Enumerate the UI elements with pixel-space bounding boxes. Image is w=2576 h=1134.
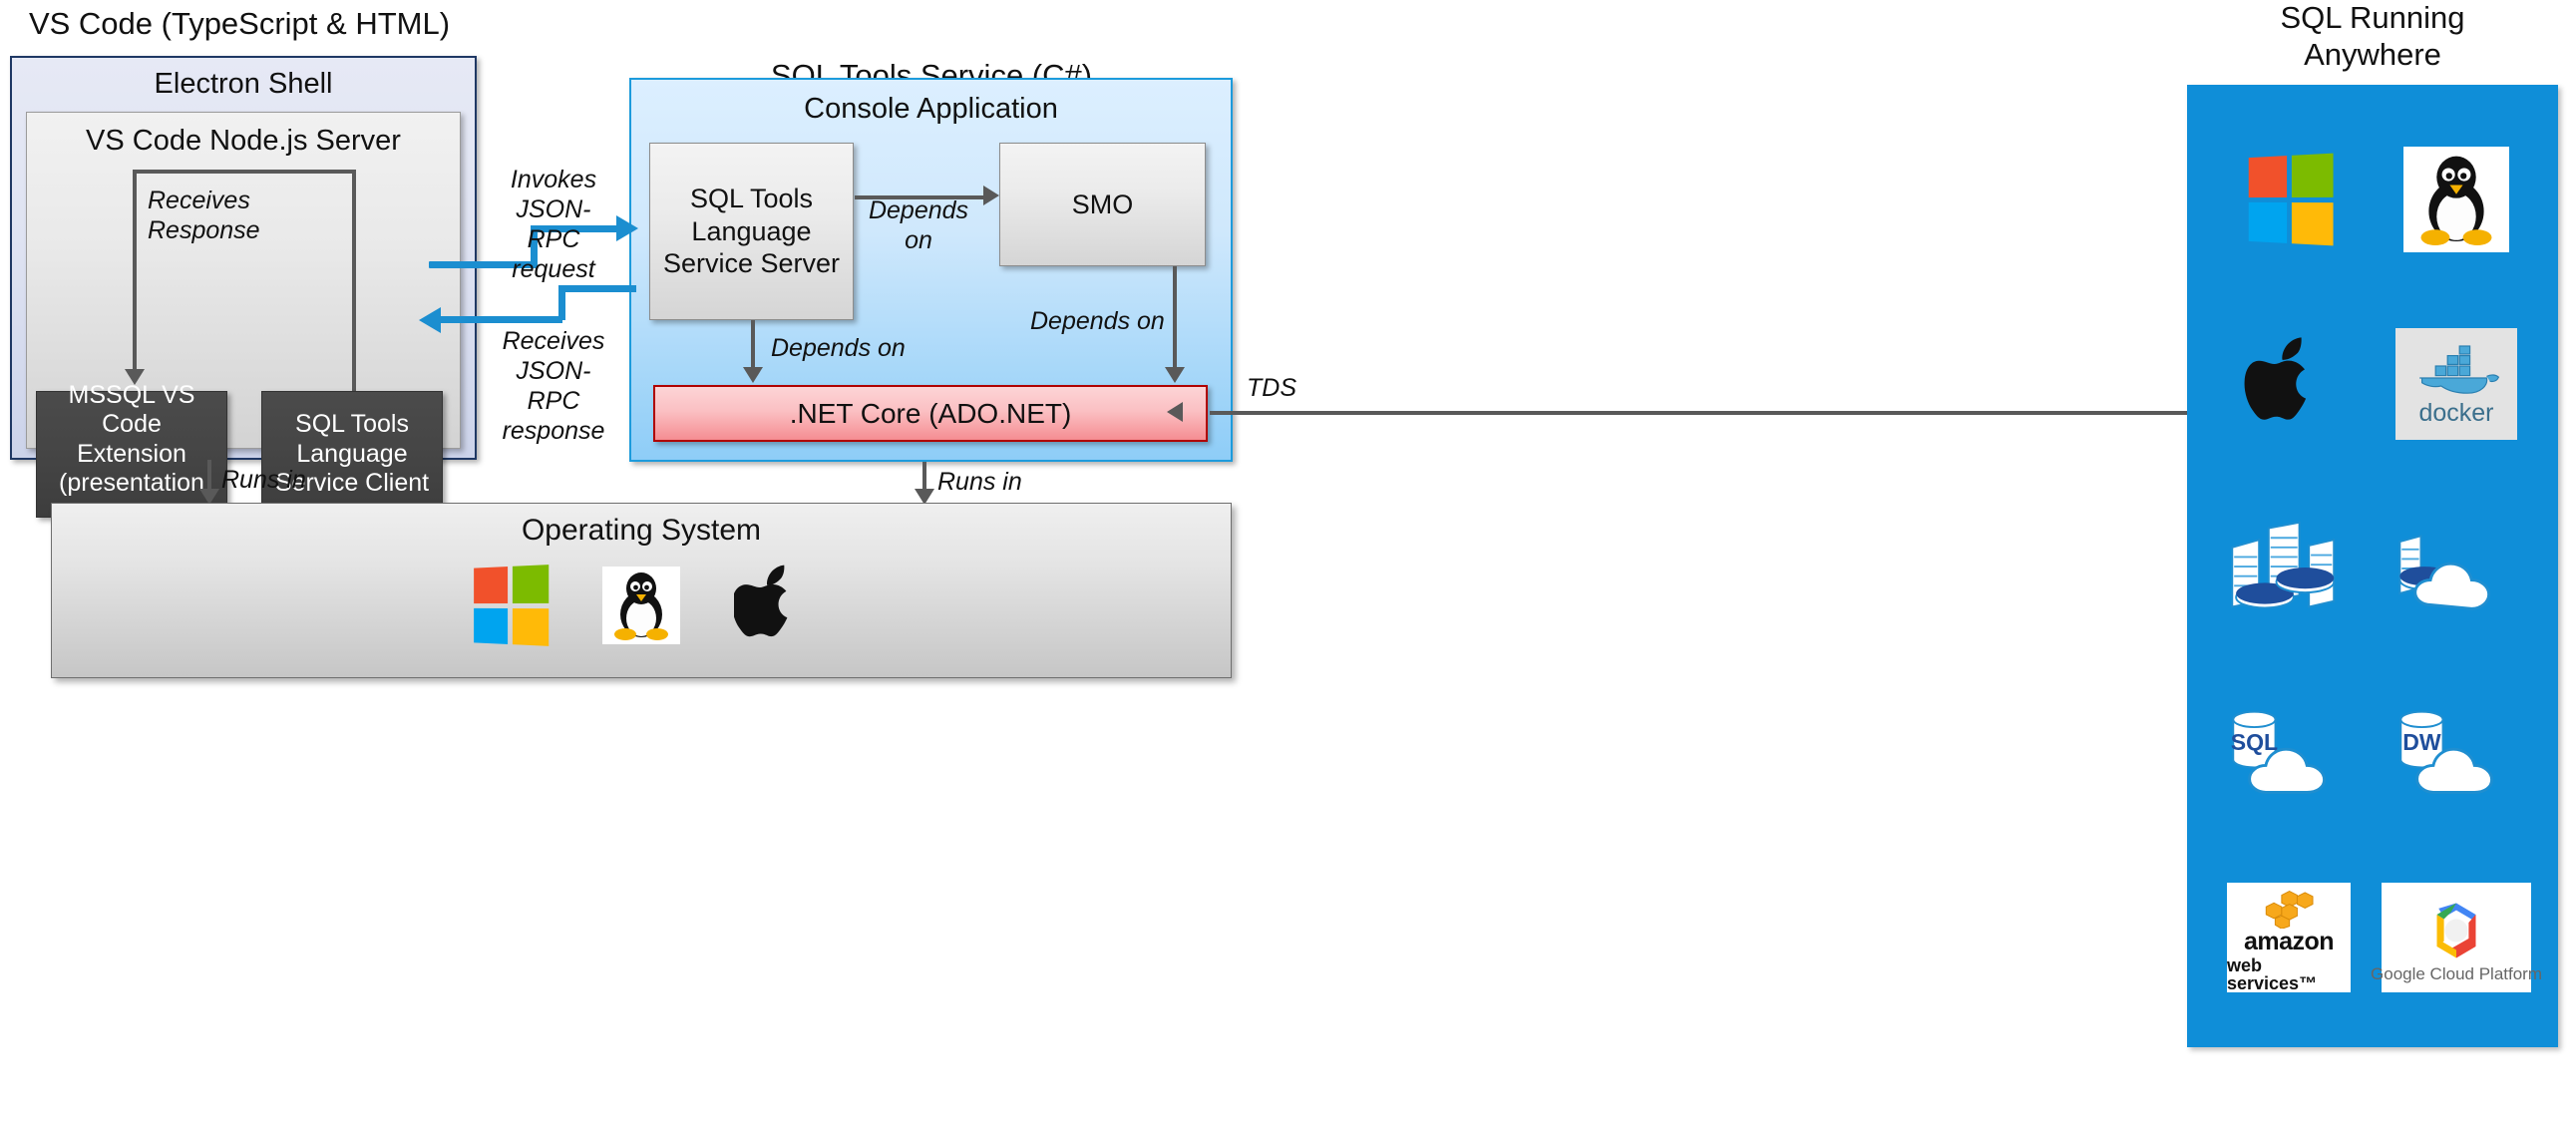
- depends-on-ado-from-smo-arrowhead: [1165, 367, 1185, 383]
- json-rpc-response-segment-3: [441, 316, 562, 323]
- sql-anywhere-tile-azure-sql-db: SQL: [2222, 701, 2356, 805]
- sql-anywhere-tile-gcp: Google Cloud Platform: [2382, 883, 2531, 992]
- edge-label-depends-on-ado-from-server: Depends on: [771, 333, 960, 363]
- edge-label-depends-on-smo: Depends on: [863, 195, 974, 255]
- receives-response-connector-top: [133, 170, 356, 174]
- azure-sql-data-warehouse-icon: DW: [2391, 704, 2522, 802]
- amazon-web-services-logo-icon: [2243, 889, 2335, 929]
- azure-sql-database-icon: SQL: [2223, 704, 2355, 802]
- depends-on-ado-from-server-arrowhead: [743, 367, 763, 383]
- panel-vscode-node-server-title: VS Code Node.js Server: [27, 125, 460, 158]
- panel-operating-system: Operating System: [51, 503, 1232, 678]
- on-premises-datacenter-icon: [2226, 519, 2352, 618]
- receives-response-connector-left: [133, 170, 137, 369]
- sql-anywhere-tile-linux: [2403, 147, 2509, 252]
- google-cloud-platform-logo-icon: [2419, 900, 2493, 961]
- sql-anywhere-tile-azure-sql-dw: DW: [2390, 701, 2523, 805]
- gcp-wordmark-label: Google Cloud Platform: [2371, 965, 2542, 982]
- azure-sql-database-label: SQL: [2231, 729, 2278, 755]
- edge-label-invokes-json-rpc-request: Invokes JSON- RPC request: [484, 165, 623, 284]
- panel-sql-running-anywhere: docker: [2187, 85, 2558, 1047]
- sql-anywhere-tile-apple: [2234, 329, 2344, 439]
- caption-vs-code: VS Code (TypeScript & HTML): [0, 6, 479, 43]
- sql-anywhere-tile-docker: docker: [2395, 328, 2517, 440]
- box-dotnet-core-ado-net-label: .NET Core (ADO.NET): [790, 398, 1072, 430]
- depends-on-smo-arrowhead: [983, 186, 999, 205]
- aws-wordmark-amazon: amazon: [2244, 931, 2334, 954]
- cloud-vm-database-icon: [2392, 521, 2521, 616]
- caption-sql-running-anywhere: SQL Running Anywhere: [2187, 0, 2558, 73]
- architecture-diagram: VS Code (TypeScript & HTML) SQL Tools Se…: [0, 0, 2576, 1134]
- json-rpc-response-segment-1: [558, 285, 636, 292]
- docker-whale-icon: [2408, 341, 2504, 399]
- os-icon-row: [52, 564, 1231, 647]
- tds-line: [1210, 411, 2187, 415]
- depends-on-ado-from-server-line: [751, 320, 755, 369]
- windows-logo-icon: [2249, 153, 2334, 245]
- edge-label-runs-in-right: Runs in: [937, 467, 1087, 497]
- box-smo: SMO: [999, 143, 1206, 266]
- box-smo-label: SMO: [1072, 189, 1134, 220]
- sql-anywhere-icon-grid: docker: [2187, 85, 2558, 1047]
- aws-wordmark-web-services: web services™: [2227, 956, 2351, 992]
- edge-label-depends-on-ado-from-smo: Depends on: [1030, 306, 1220, 336]
- sql-anywhere-tile-aws: amazon web services™: [2227, 883, 2351, 992]
- sql-anywhere-tile-windows: [2234, 145, 2344, 254]
- linux-penguin-icon: [2415, 154, 2497, 245]
- linux-penguin-icon: [602, 567, 680, 644]
- edge-label-receives-json-rpc-response: Receives JSON- RPC response: [479, 326, 628, 446]
- edge-label-receives-response: Receives Response: [148, 186, 367, 245]
- windows-logo-icon: [474, 565, 549, 646]
- panel-console-application-title: Console Application: [631, 93, 1231, 126]
- box-dotnet-core-ado-net: .NET Core (ADO.NET): [653, 385, 1208, 442]
- edge-label-runs-in-left: Runs in: [221, 465, 371, 495]
- tds-arrowhead: [1167, 402, 1183, 422]
- box-sql-tools-language-service-client: SQL Tools Language Service Client: [261, 391, 443, 518]
- json-rpc-response-arrowhead: [419, 307, 441, 333]
- sql-anywhere-tile-on-premises: [2225, 517, 2353, 620]
- sql-anywhere-tile-cloud-vm: [2391, 517, 2522, 620]
- apple-logo-icon: [2243, 334, 2335, 434]
- edge-label-tds: TDS: [1247, 373, 1336, 403]
- panel-operating-system-title: Operating System: [52, 514, 1231, 548]
- azure-sql-data-warehouse-label: DW: [2402, 729, 2441, 755]
- box-sql-tools-language-service-server: SQL Tools Language Service Server: [649, 143, 854, 320]
- panel-electron-shell-title: Electron Shell: [12, 68, 475, 101]
- json-rpc-response-segment-2: [558, 285, 565, 320]
- docker-wordmark-label: docker: [2418, 401, 2493, 426]
- apple-logo-icon: [734, 564, 812, 647]
- box-sql-tools-language-service-server-label: SQL Tools Language Service Server: [663, 183, 840, 279]
